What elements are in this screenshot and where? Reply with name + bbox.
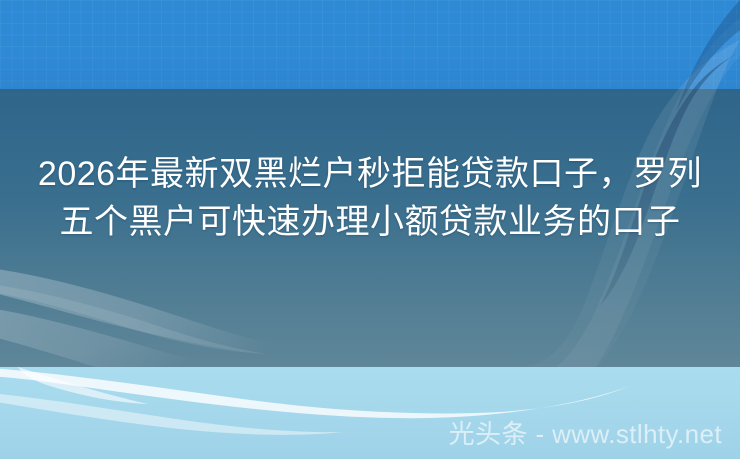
site-watermark: 光头条 - www.stlhty.net: [449, 417, 722, 451]
promo-banner: 2026年最新双黑烂户秒拒能贷款口子，罗列五个黑户可快速办理小额贷款业务的口子 …: [0, 0, 740, 459]
background-top-band: [0, 0, 740, 89]
banner-headline: 2026年最新双黑烂户秒拒能贷款口子，罗列五个黑户可快速办理小额贷款业务的口子: [0, 150, 740, 246]
